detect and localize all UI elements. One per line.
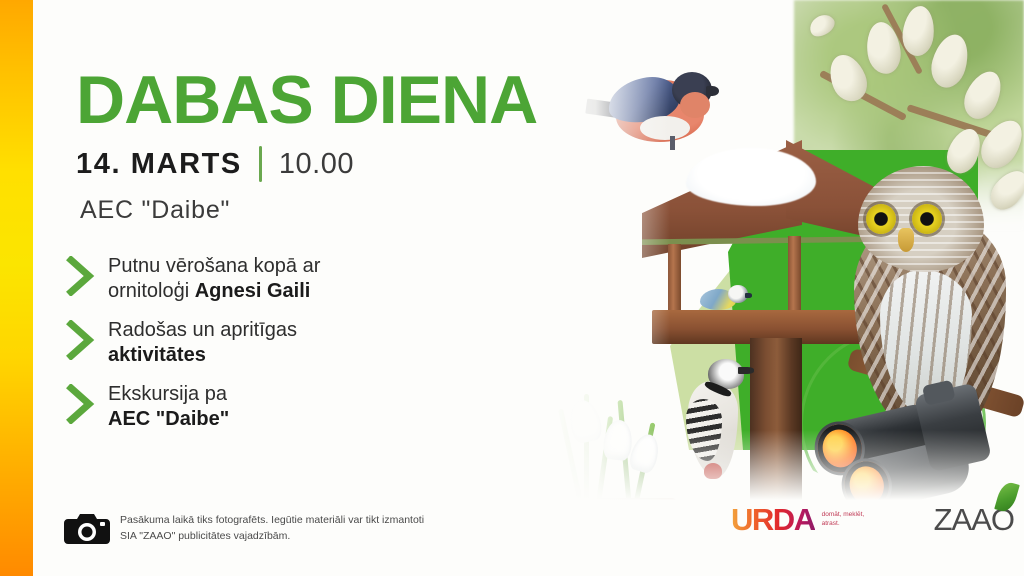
chevron-right-icon	[66, 256, 96, 296]
activity-list: Putnu vērošana kopā ar ornitoloģi Agnesi…	[66, 254, 486, 446]
urda-logo: URDA domāt, meklēt, atrast.	[731, 504, 876, 535]
list-item: Radošas un apritīgas aktivitātes	[66, 318, 486, 368]
list-item-line2-plain: ornitoloģi	[108, 280, 195, 302]
content-block: DABAS DIENA 14. MARTS 10.00 AEC "Daibe" …	[0, 0, 660, 576]
event-venue: AEC "Daibe"	[80, 196, 230, 225]
blue-tit-image	[698, 283, 752, 313]
list-item-line2-bold: AEC "Daibe"	[108, 408, 229, 430]
snow-on-roof	[686, 148, 816, 206]
date-time-divider	[259, 146, 262, 182]
zaao-logo: ZAAO	[934, 504, 1014, 535]
list-item-line1: Ekskursija pa	[108, 383, 227, 405]
chevron-right-icon	[66, 320, 96, 360]
chevron-right-icon	[66, 384, 96, 424]
list-item-line1: Putnu vērošana kopā ar	[108, 255, 320, 277]
event-time: 10.00	[279, 148, 354, 181]
sponsor-logos: URDA domāt, meklēt, atrast. ZAAO	[731, 504, 1014, 535]
list-item-text: Radošas un apritīgas aktivitātes	[108, 318, 297, 368]
date-time-line: 14. MARTS 10.00	[76, 146, 354, 182]
list-item-text: Putnu vērošana kopā ar ornitoloģi Agnesi…	[108, 254, 320, 304]
photo-disclaimer: Pasākuma laikā tiks fotografēts. Iegūtie…	[120, 513, 440, 545]
list-item-line2-bold: aktivitātes	[108, 344, 206, 366]
urda-tagline: domāt, meklēt, atrast.	[822, 511, 876, 529]
page-title: DABAS DIENA	[76, 66, 537, 134]
list-item: Putnu vērošana kopā ar ornitoloģi Agnesi…	[66, 254, 486, 304]
list-item: Ekskursija pa AEC "Daibe"	[66, 382, 486, 432]
left-gradient-bar	[0, 0, 33, 576]
footer: Pasākuma laikā tiks fotografēts. Iegūtie…	[0, 500, 1024, 576]
list-item-line1: Radošas un apritīgas	[108, 319, 297, 341]
camera-icon	[64, 512, 110, 546]
list-item-text: Ekskursija pa AEC "Daibe"	[108, 382, 229, 432]
owl-eye-right	[912, 204, 942, 234]
list-item-line2-bold: Agnesi Gaili	[195, 280, 311, 302]
owl-eye-left	[866, 204, 896, 234]
urda-wordmark: URDA	[731, 504, 815, 535]
event-date: 14. MARTS	[76, 148, 242, 181]
poster-root: DABAS DIENA 14. MARTS 10.00 AEC "Daibe" …	[0, 0, 1024, 576]
